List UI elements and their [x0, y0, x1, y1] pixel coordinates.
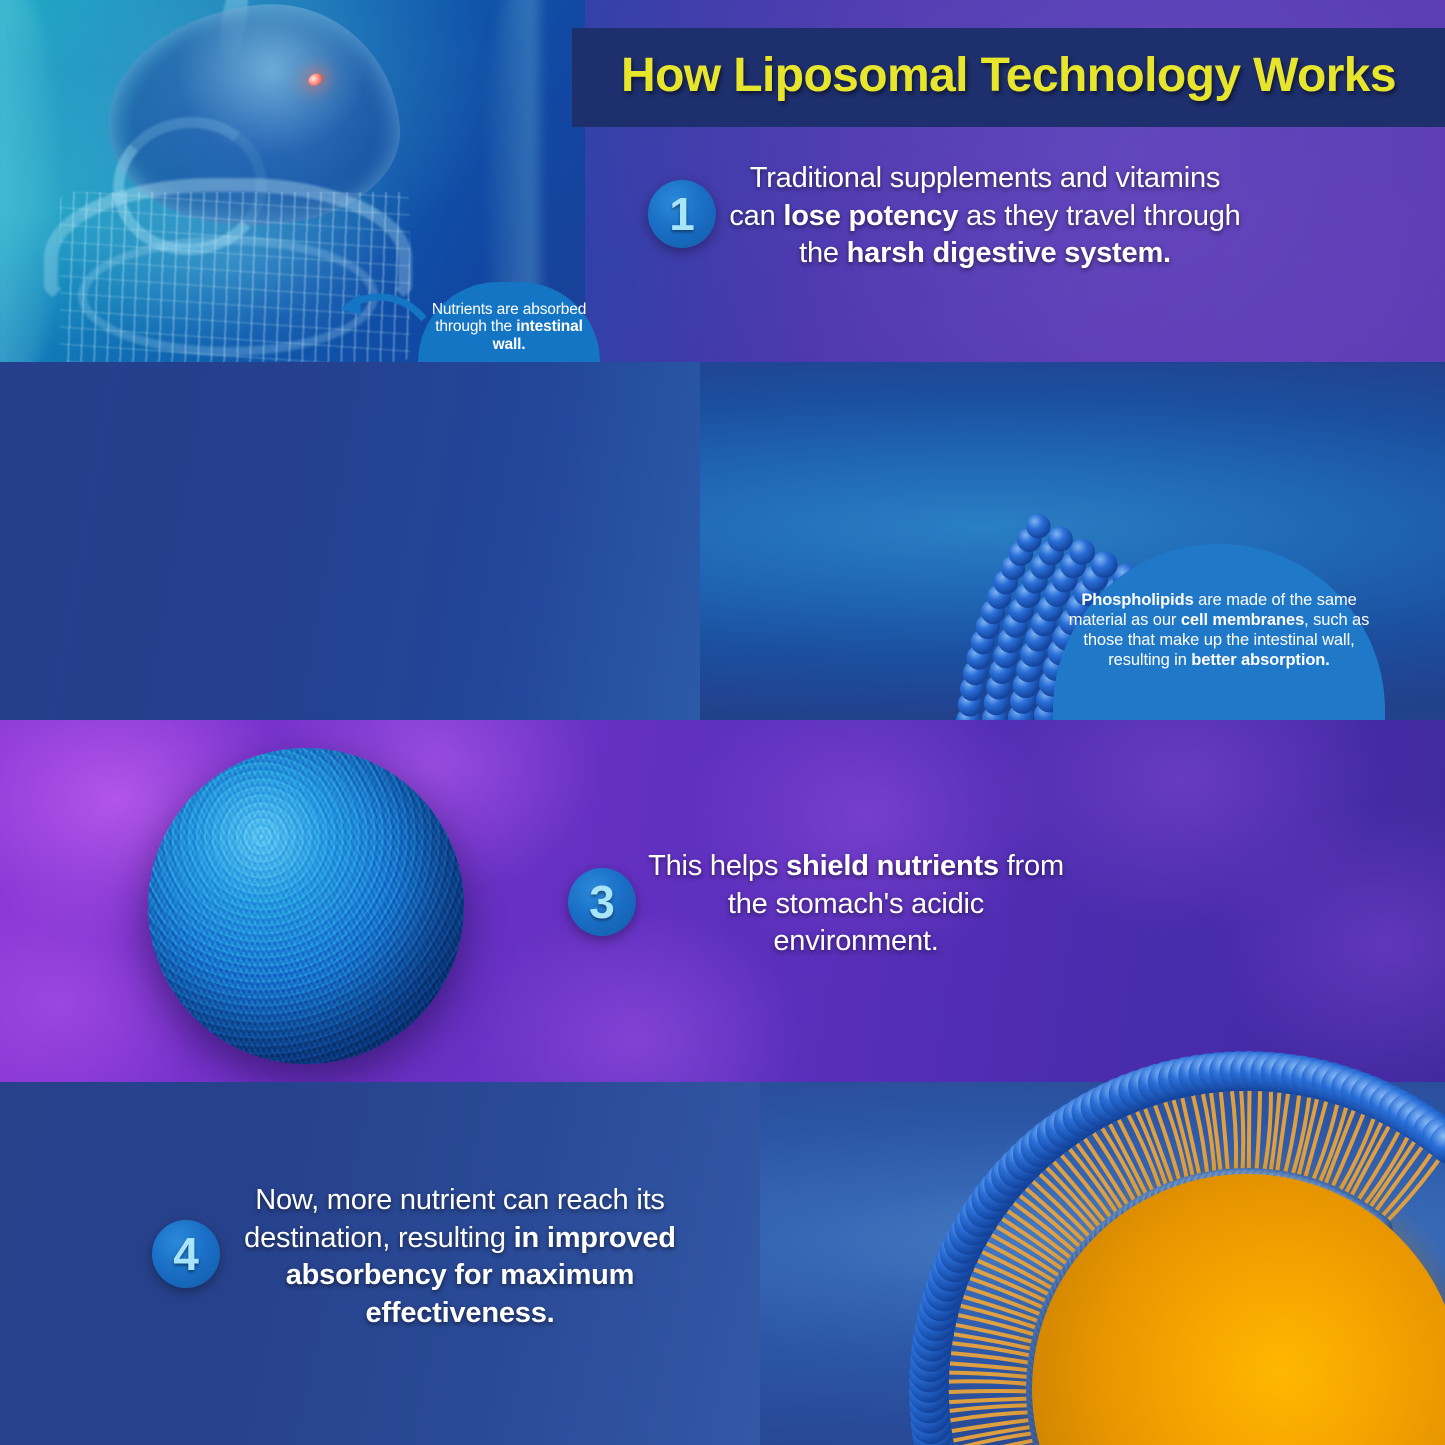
step-4-text: Now, more nutrient can reach its destina…: [230, 1182, 690, 1333]
intestine-coils: [78, 236, 378, 356]
step-1-number-badge: 1: [648, 180, 716, 248]
step-3-number-badge: 3: [568, 868, 636, 936]
step-1-text: Traditional supplements and vitamins can…: [726, 160, 1244, 273]
step-3-text: This helps shield nutrients from the sto…: [646, 848, 1066, 961]
phospholipid-callout-text: Phospholipids are made of the same mater…: [1067, 590, 1371, 671]
liposome-cross-section-illustration: [820, 952, 1445, 1445]
step-2-background-left: [0, 362, 700, 720]
nutrient-absorption-callout-text: Nutrients are absorbed through the intes…: [428, 301, 590, 353]
step-4-number: 4: [173, 1231, 199, 1277]
step-4-number-badge: 4: [152, 1220, 220, 1288]
step-1-panel: Nutrients are absorbed through the intes…: [0, 0, 1445, 362]
liposomal-technology-infographic: Nutrients are absorbed through the intes…: [0, 0, 1445, 1445]
curved-arrow-left-icon: [336, 287, 428, 327]
step-3-number: 3: [589, 879, 615, 925]
liposome-sphere-illustration: [148, 748, 464, 1064]
step-1-number: 1: [669, 191, 695, 237]
page-title: How Liposomal Technology Works: [572, 48, 1445, 103]
